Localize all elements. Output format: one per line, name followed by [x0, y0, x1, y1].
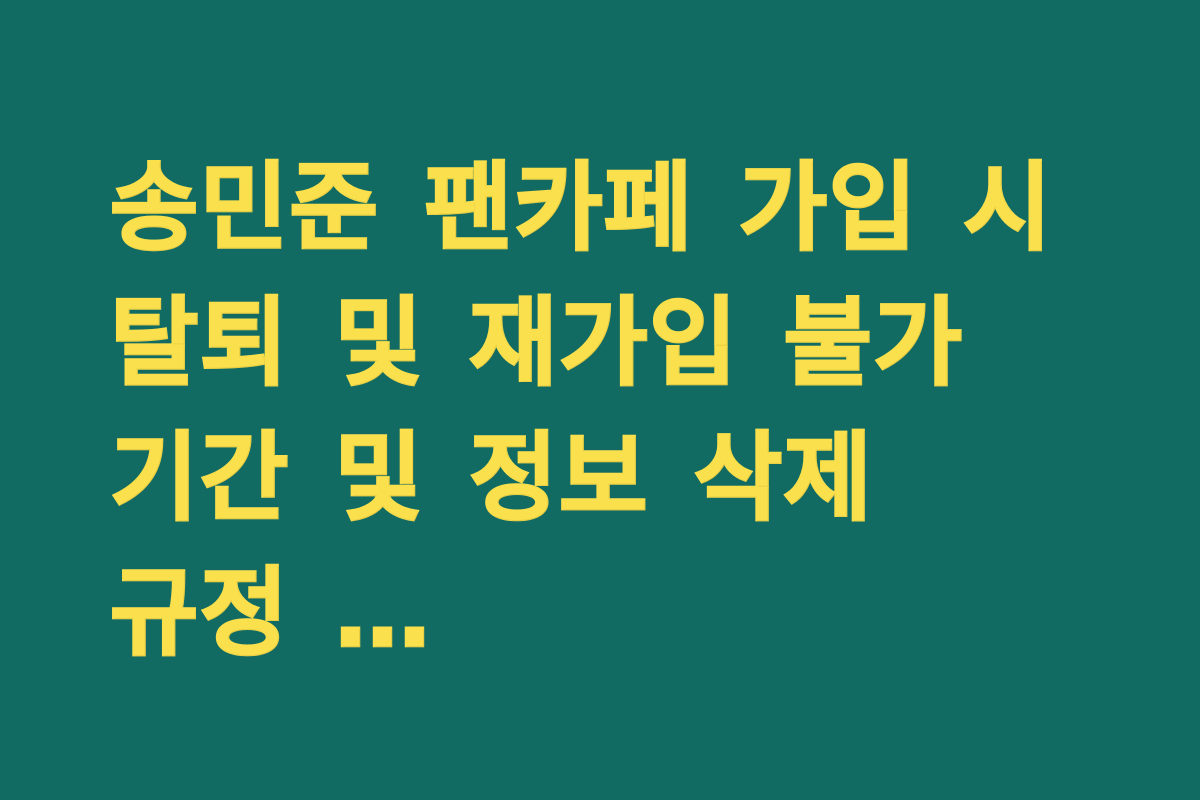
headline-text: 송민준 팬카페 가입 시 탈퇴 및 재가입 불가 기간 및 정보 삭제 규정 …	[110, 141, 1088, 681]
headline-block: 송민준 팬카페 가입 시 탈퇴 및 재가입 불가 기간 및 정보 삭제 규정 …	[0, 141, 1200, 681]
thumbnail-canvas: 송민준 팬카페 가입 시 탈퇴 및 재가입 불가 기간 및 정보 삭제 규정 …	[0, 0, 1200, 800]
